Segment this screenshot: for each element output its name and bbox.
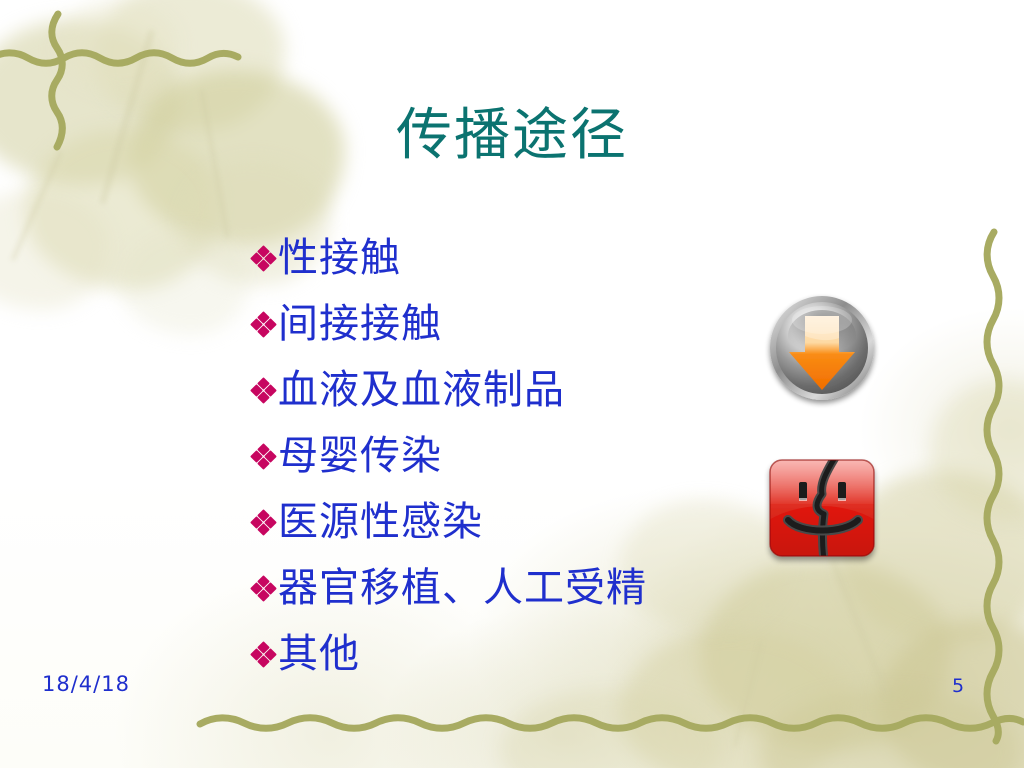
diamond-cluster-bullet-icon <box>252 311 278 353</box>
diamond-cluster-bullet-icon <box>252 443 278 485</box>
list-item[interactable]: 母婴传染 <box>252 434 772 500</box>
vine-border-top-left <box>0 48 240 62</box>
list-item-label: 医源性感染 <box>278 500 483 544</box>
page-number: 5 <box>952 675 964 697</box>
footer-date: 18/4/18 <box>42 672 130 696</box>
diamond-cluster-bullet-icon <box>252 377 278 419</box>
diamond-cluster-bullet-icon <box>252 509 278 551</box>
list-item-label: 母婴传染 <box>278 434 442 478</box>
list-item[interactable]: 其他 <box>252 632 772 698</box>
list-item[interactable]: 医源性感染 <box>252 500 772 566</box>
slide-canvas: 传播途径 <box>0 0 1024 768</box>
vine-border-right <box>982 232 1004 742</box>
diamond-cluster-bullet-icon <box>252 245 278 287</box>
vine-border-bottom <box>200 712 1024 726</box>
list-item[interactable]: 性接触 <box>252 236 772 302</box>
finder-face-icon[interactable] <box>764 456 882 566</box>
download-arrow-icon[interactable] <box>762 290 882 410</box>
list-item-label: 器官移植、人工受精 <box>278 566 647 610</box>
list-item-label: 性接触 <box>278 236 401 280</box>
diamond-cluster-bullet-icon <box>252 575 278 617</box>
list-item-label: 间接接触 <box>278 302 442 346</box>
list-item[interactable]: 间接接触 <box>252 302 772 368</box>
list-item-label: 血液及血液制品 <box>278 368 565 412</box>
list-item[interactable]: 血液及血液制品 <box>252 368 772 434</box>
list-item[interactable]: 器官移植、人工受精 <box>252 566 772 632</box>
diamond-cluster-bullet-icon <box>252 641 278 683</box>
bullet-list: 性接触 间接接触 血液及血液制品 母婴传染 医源性感染 <box>252 236 772 698</box>
page-title: 传播途径 <box>0 104 1024 168</box>
list-item-label: 其他 <box>278 632 360 676</box>
